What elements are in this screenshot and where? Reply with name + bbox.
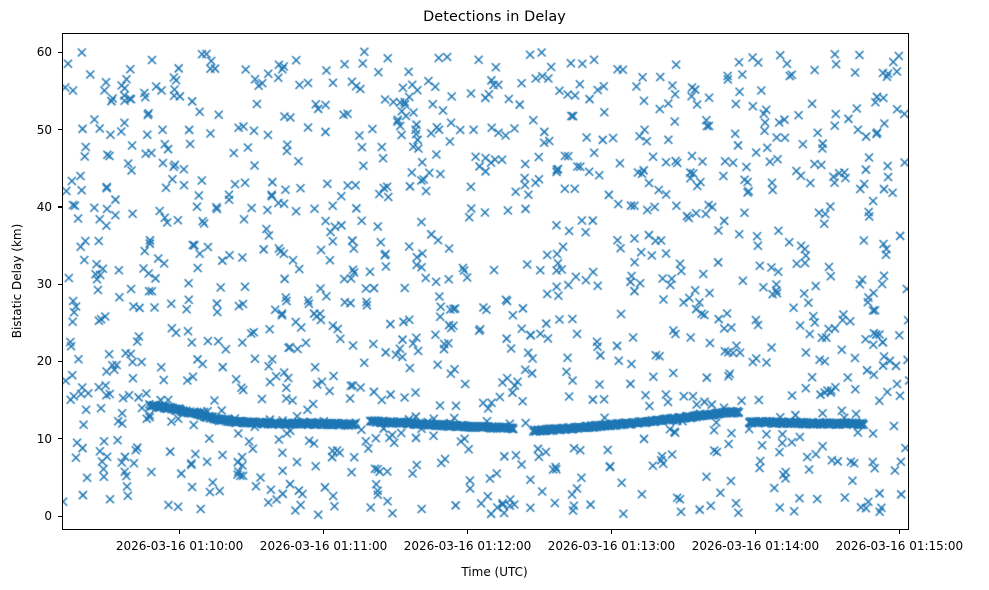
y-tick-mark — [58, 361, 62, 362]
y-tick-mark — [58, 206, 62, 207]
x-tick-label: 2026-03-16 01:15:00 — [836, 539, 963, 553]
y-tick-mark — [58, 52, 62, 53]
matplotlib-figure: Detections in Delay 0102030405060 2026-0… — [0, 0, 989, 590]
y-tick-label: 0 — [0, 509, 52, 523]
plot-area — [62, 33, 909, 530]
y-tick-mark — [58, 516, 62, 517]
y-tick-mark — [58, 438, 62, 439]
x-tick-label: 2026-03-16 01:12:00 — [404, 539, 531, 553]
x-tick-mark — [323, 530, 324, 534]
y-tick-label: 40 — [0, 200, 52, 214]
x-tick-mark — [899, 530, 900, 534]
y-axis-label: Bistatic Delay (km) — [10, 224, 24, 339]
x-tick-mark — [467, 530, 468, 534]
x-axis-label: Time (UTC) — [0, 565, 989, 579]
x-tick-mark — [755, 530, 756, 534]
y-tick-label: 30 — [0, 277, 52, 291]
x-tick-mark — [179, 530, 180, 534]
x-tick-label: 2026-03-16 01:10:00 — [116, 539, 243, 553]
y-tick-label: 60 — [0, 45, 52, 59]
y-tick-label: 20 — [0, 354, 52, 368]
x-tick-label: 2026-03-16 01:13:00 — [548, 539, 675, 553]
x-tick-label: 2026-03-16 01:14:00 — [692, 539, 819, 553]
y-tick-label: 10 — [0, 432, 52, 446]
x-tick-label: 2026-03-16 01:11:00 — [260, 539, 387, 553]
y-tick-mark — [58, 284, 62, 285]
chart-title: Detections in Delay — [0, 9, 989, 25]
y-tick-label: 50 — [0, 123, 52, 137]
y-tick-mark — [58, 129, 62, 130]
x-tick-mark — [611, 530, 612, 534]
scatter-plot-canvas — [63, 34, 908, 529]
